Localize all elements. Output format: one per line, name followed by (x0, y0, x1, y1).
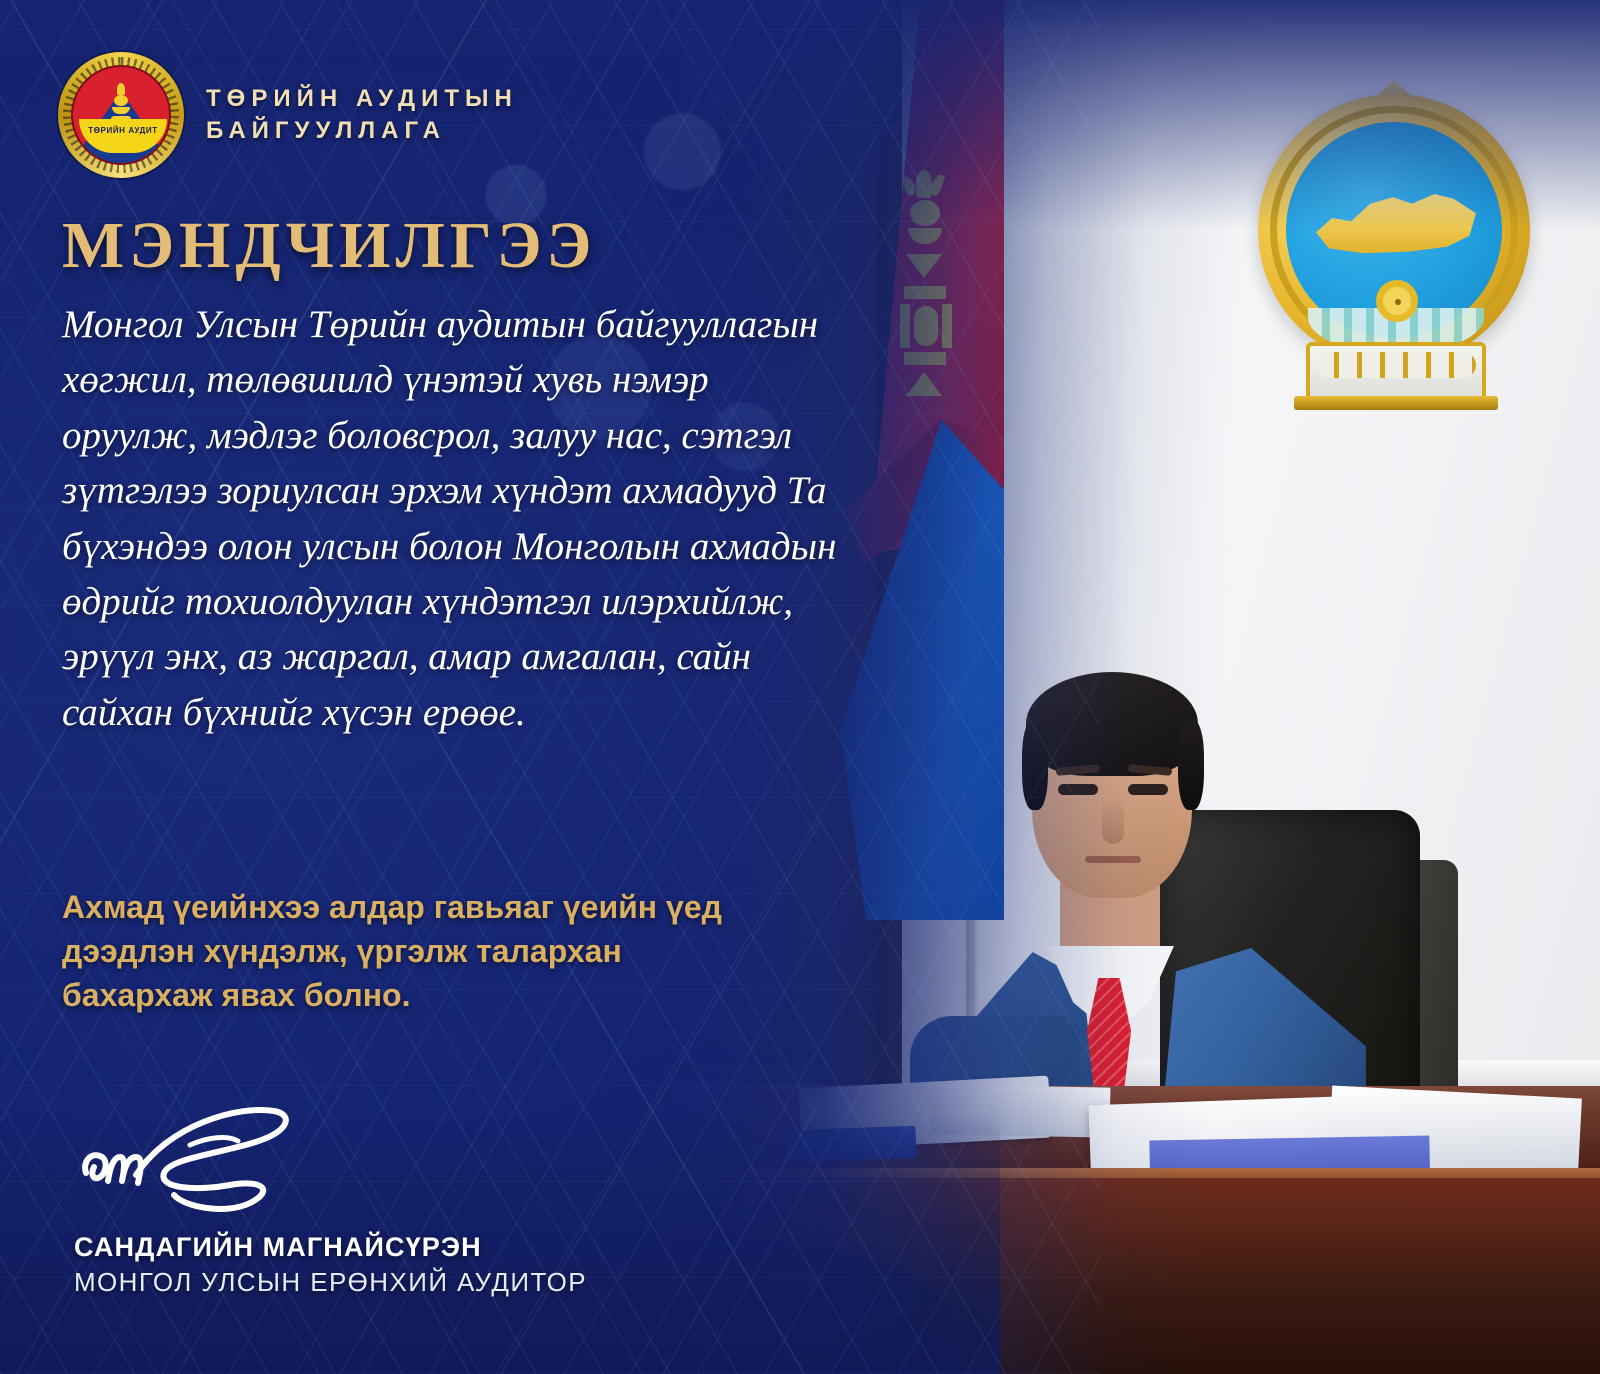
greeting-body-text: Монгол Улсын Төрийн аудитын байгууллагын… (62, 297, 852, 740)
signature-icon (78, 1095, 358, 1215)
greeting-highlight-text: Ахмад үеийнхээ алдар гавьяаг үеийн үед д… (62, 885, 722, 1017)
signer-role: МОНГОЛ УЛСЫН ЕРӨНХИЙ АУДИТОР (74, 1267, 587, 1298)
brand-header: ТӨРИЙН АУДИТ ТӨРИЙН АУДИТЫН БАЙГУУЛЛАГА (58, 52, 518, 178)
org-name-line2: БАЙГУУЛЛАГА (206, 118, 518, 144)
audit-logo-icon: ТӨРИЙН АУДИТ (58, 52, 184, 178)
page-title: МЭНДЧИЛГЭЭ (62, 208, 596, 284)
greeting-card: ТӨРИЙН АУДИТ ТӨРИЙН АУДИТЫН БАЙГУУЛЛАГА … (0, 0, 1600, 1374)
card-content: ТӨРИЙН АУДИТ ТӨРИЙН АУДИТЫН БАЙГУУЛЛАГА … (0, 0, 1600, 1374)
org-name: ТӨРИЙН АУДИТЫН БАЙГУУЛЛАГА (206, 86, 518, 144)
signer-block: САНДАГИЙН МАГНАЙСҮРЭН МОНГОЛ УЛСЫН ЕРӨНХ… (74, 1232, 587, 1298)
signer-name: САНДАГИЙН МАГНАЙСҮРЭН (74, 1232, 587, 1263)
logo-banner-text: ТӨРИЙН АУДИТ (79, 126, 167, 135)
org-name-line1: ТӨРИЙН АУДИТЫН (206, 86, 518, 112)
